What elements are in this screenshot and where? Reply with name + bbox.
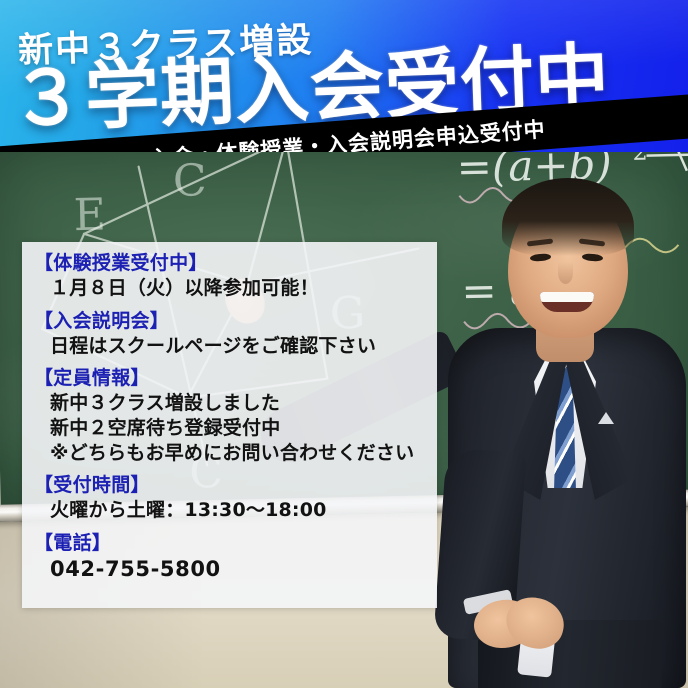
section-line: 火曜から土曜：13:30〜18:00 xyxy=(34,498,437,523)
svg-text:E: E xyxy=(73,189,106,241)
section-line: ※どちらもお早めにお問い合わせください xyxy=(34,441,437,466)
instructor-nose xyxy=(558,262,573,284)
info-panel: 【体験授業受付中】 １月８日（火）以降参加可能！ 【入会説明会】 日程はスクール… xyxy=(22,242,437,608)
phone-number[interactable]: 042-755-5800 xyxy=(34,556,437,583)
info-section-capacity: 【定員情報】 新中３クラス増設しました 新中２空席待ち登録受付中 ※どちらもお早… xyxy=(34,367,437,465)
promo-banner-image: E C G C =(a+b) = a = a 2 2 2 + + xyxy=(0,0,688,688)
section-line: 新中２空席待ち登録受付中 xyxy=(34,416,437,441)
instructor-teeth xyxy=(540,292,594,302)
info-section-briefing: 【入会説明会】 日程はスクールページをご確認下さい xyxy=(34,310,437,359)
instructor-hair xyxy=(502,178,634,256)
info-section-hours: 【受付時間】 火曜から土曜：13:30〜18:00 xyxy=(34,474,437,523)
section-heading: 【電話】 xyxy=(34,532,437,556)
section-heading: 【定員情報】 xyxy=(34,367,437,391)
section-line: 新中３クラス増設しました xyxy=(34,391,437,416)
info-section-trial: 【体験授業受付中】 １月８日（火）以降参加可能！ xyxy=(34,252,437,301)
svg-text:C: C xyxy=(172,155,207,207)
info-section-phone: 【電話】 042-755-5800 xyxy=(34,532,437,583)
section-line: 日程はスクールページをご確認下さい xyxy=(34,334,437,359)
section-heading: 【体験授業受付中】 xyxy=(34,252,437,276)
instructor-figure xyxy=(430,150,688,688)
instructor-smile xyxy=(540,292,594,312)
section-line: １月８日（火）以降参加可能！ xyxy=(34,276,437,301)
info-panel-rows: 【体験授業受付中】 １月８日（火）以降参加可能！ 【入会説明会】 日程はスクール… xyxy=(22,252,437,583)
section-heading: 【入会説明会】 xyxy=(34,310,437,334)
headline-banner: 新中３クラス増設 ３学期入会受付中 入会・体験授業・入会説明会申込受付中 xyxy=(0,0,688,152)
section-heading: 【受付時間】 xyxy=(34,474,437,498)
